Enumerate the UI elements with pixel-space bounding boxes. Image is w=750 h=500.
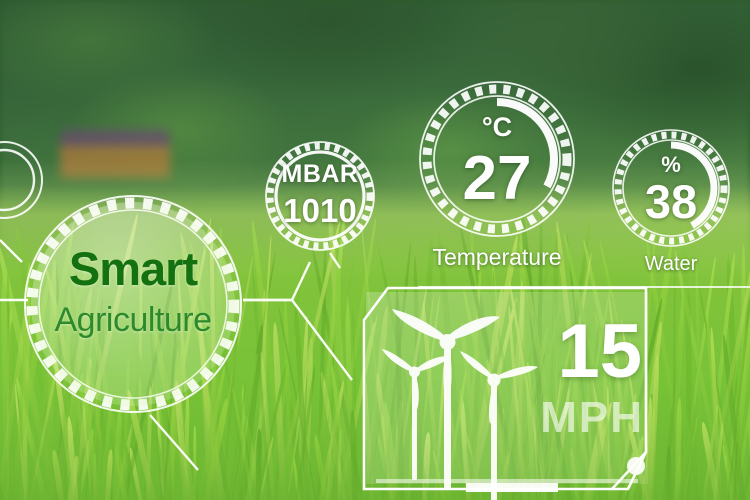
brand-line-1: Smart: [69, 241, 197, 296]
pressure-unit: MBAR: [282, 162, 359, 187]
smart-agriculture-hub[interactable]: Smart Agriculture: [22, 193, 244, 415]
brand-line-2: Agriculture: [54, 301, 211, 340]
smart-agriculture-hero-image: Smart Agriculture MBAR 1010 °C 27 Temper…: [0, 0, 750, 500]
pressure-value: 1010: [283, 194, 356, 227]
water-unit: %: [661, 154, 681, 176]
link-hub-to-pressure: [243, 262, 310, 300]
temperature-unit: °C: [482, 114, 512, 141]
gauge-clipped-left[interactable]: [0, 140, 44, 220]
water-value: 38: [645, 178, 697, 225]
gauge-pressure[interactable]: MBAR 1010: [264, 140, 376, 252]
wind-speed-unit: MPH: [540, 396, 644, 440]
clipped-gauge-ring: [0, 140, 44, 220]
water-caption: Water: [645, 253, 698, 276]
link-hub-upleft: [0, 240, 22, 262]
link-pressure-stub: [330, 253, 340, 268]
link-hub-to-wind: [243, 300, 352, 380]
temperature-caption: Temperature: [432, 244, 561, 271]
gauge-water[interactable]: % 38 Water: [611, 128, 731, 248]
wind-speed-value: 15: [557, 314, 642, 390]
temperature-value: 27: [463, 148, 532, 210]
wind-panel[interactable]: 15 MPH: [358, 286, 658, 491]
link-hub-bottom: [150, 415, 198, 470]
gauge-temperature[interactable]: °C 27 Temperature: [418, 80, 576, 238]
